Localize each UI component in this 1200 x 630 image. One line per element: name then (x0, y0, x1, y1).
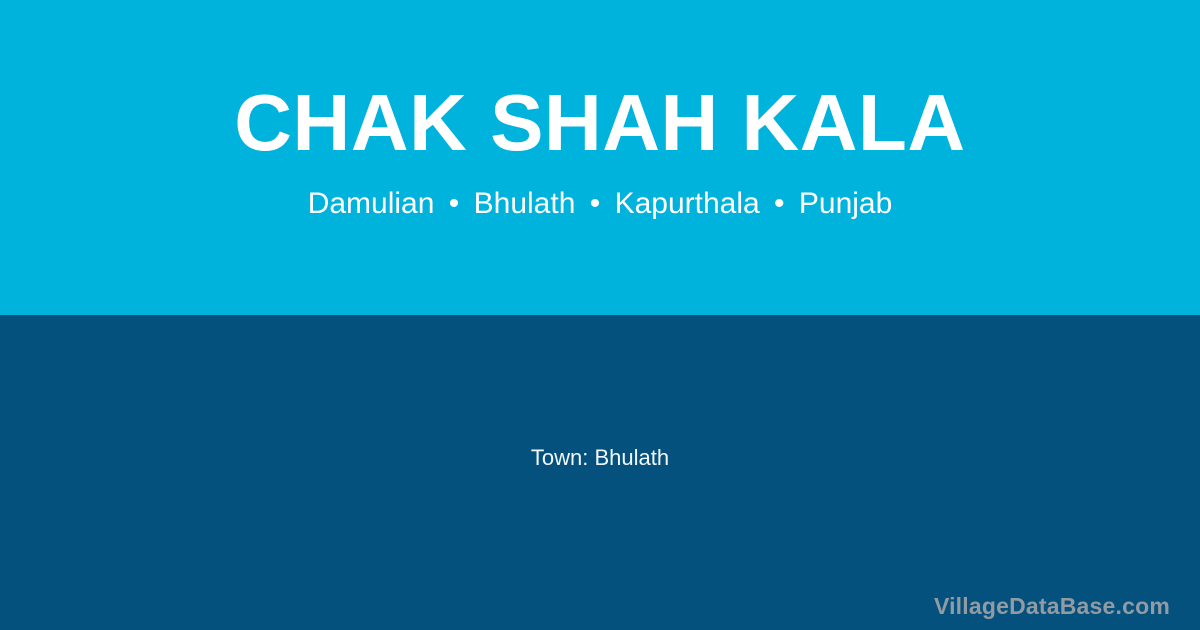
breadcrumb-item-state: Punjab (799, 187, 892, 220)
breadcrumb: Damulian • Bhulath • Kapurthala • Punjab (308, 189, 893, 219)
hero-band: CHAK SHAH KALA Damulian • Bhulath • Kapu… (0, 0, 1200, 315)
breadcrumb-item-district: Kapurthala (615, 187, 760, 220)
breadcrumb-separator-icon: • (768, 189, 791, 219)
breadcrumb-item-block: Bhulath (474, 187, 576, 220)
page-title: CHAK SHAH KALA (234, 83, 965, 163)
detail-band: Town: Bhulath VillageDataBase.com (0, 315, 1200, 630)
town-detail-text: Town: Bhulath (531, 447, 669, 469)
village-info-card: CHAK SHAH KALA Damulian • Bhulath • Kapu… (0, 0, 1200, 630)
breadcrumb-separator-icon: • (443, 189, 466, 219)
breadcrumb-item-village: Damulian (308, 187, 435, 220)
breadcrumb-separator-icon: • (584, 189, 607, 219)
site-watermark: VillageDataBase.com (934, 595, 1170, 618)
detail-row: Town: Bhulath (0, 315, 1200, 630)
